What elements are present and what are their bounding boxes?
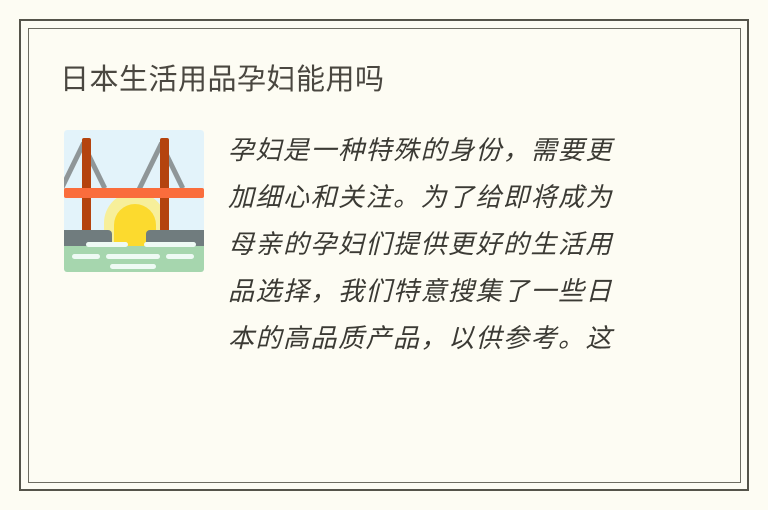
water-wave <box>166 254 194 259</box>
article-body-row: 孕妇是一种特殊的身份，需要更 加细心和关注。为了给即将成为 母亲的孕妇们提供更好… <box>60 128 680 363</box>
body-line: 加细心和关注。为了给即将成为 <box>228 175 680 222</box>
water-wave <box>144 242 196 247</box>
bridge-deck <box>64 188 204 198</box>
article-container: 日本生活用品孕妇能用吗 <box>60 60 680 363</box>
water-wave <box>106 254 160 259</box>
body-line: 母亲的孕妇们提供更好的生活用 <box>228 222 680 269</box>
body-line: 本的高品质产品，以供参考。这 <box>228 316 680 363</box>
water-wave <box>72 254 100 259</box>
page-root: 日本生活用品孕妇能用吗 <box>0 0 768 510</box>
body-line: 品选择，我们特意搜集了一些日 <box>228 269 680 316</box>
illustration-canvas <box>64 130 204 272</box>
article-body-text: 孕妇是一种特殊的身份，需要更 加细心和关注。为了给即将成为 母亲的孕妇们提供更好… <box>228 128 680 363</box>
water-wave <box>110 264 156 269</box>
bridge-illustration <box>60 128 204 274</box>
body-line: 孕妇是一种特殊的身份，需要更 <box>228 128 680 175</box>
water-wave <box>86 242 128 247</box>
page-title: 日本生活用品孕妇能用吗 <box>60 60 680 100</box>
